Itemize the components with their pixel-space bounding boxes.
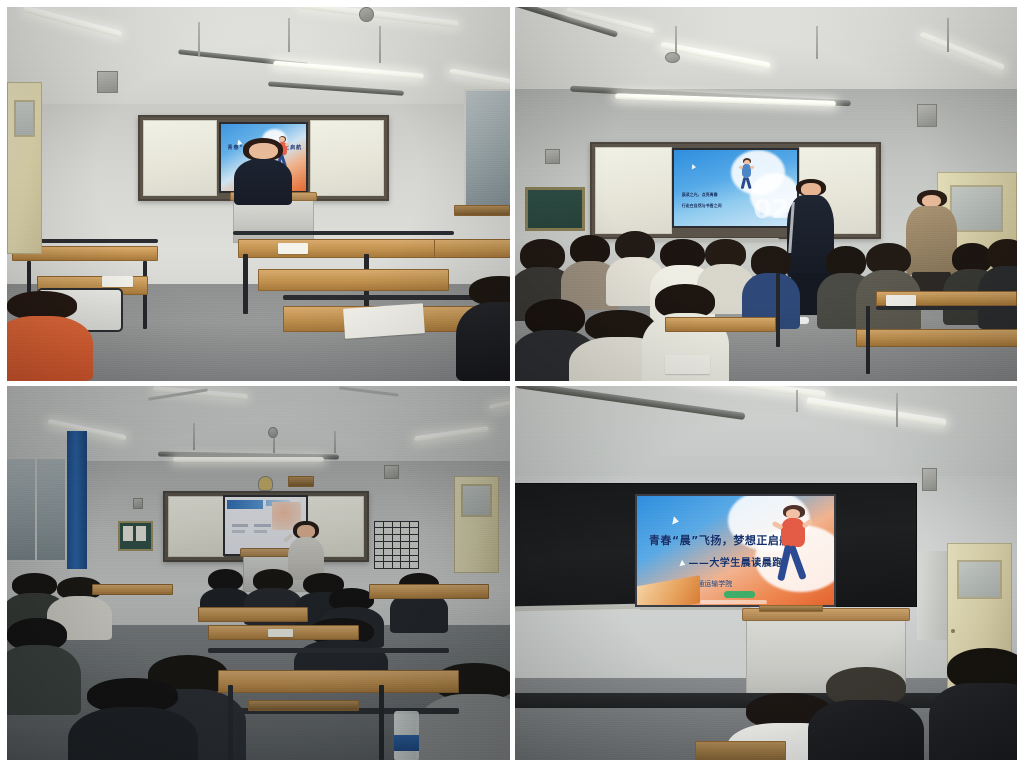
desk-leg (776, 273, 780, 348)
notice-board (118, 521, 153, 551)
presenter-face (297, 525, 314, 538)
student-hoodie-black (808, 700, 924, 760)
slide-text-line (232, 524, 248, 527)
student-desk (369, 584, 490, 599)
ceiling-speaker (917, 104, 937, 126)
student-desk (238, 239, 449, 258)
audience-person (399, 573, 439, 633)
student-right-foreground (469, 276, 509, 381)
paper-plane-icon (672, 516, 680, 525)
photo-panel-bottom-right: 青春“晨”飞扬，梦想正启航 ——大学生晨读晨跑 交通运输学院 (515, 386, 1018, 760)
notebook (665, 355, 710, 374)
slide-header-bar (227, 500, 263, 509)
audience-person (615, 231, 655, 306)
desk-leg (143, 261, 147, 328)
ceiling-fan-rod (193, 423, 195, 449)
student-torso (7, 316, 93, 381)
ceiling-fan-rod (816, 26, 818, 60)
slide-text-line (232, 530, 245, 533)
whiteboard-panel-left (168, 496, 225, 557)
audience-person (866, 243, 911, 333)
student-desk (198, 607, 309, 622)
presenter-person (293, 521, 318, 581)
ceiling-light-tube (173, 457, 324, 462)
ceiling-fan-rod (796, 390, 798, 412)
student-desk (665, 317, 776, 332)
student-torso (929, 683, 1017, 760)
runner-illustration (771, 505, 814, 596)
trophy-ornament (258, 476, 273, 491)
podium-item (759, 605, 823, 612)
stacked-books (248, 700, 359, 711)
classroom-window (7, 457, 37, 562)
presenter-face (249, 143, 278, 160)
mail-slot-rack (374, 521, 419, 570)
audience-person (7, 618, 67, 715)
desk-rail (208, 648, 449, 653)
door-window (14, 100, 35, 137)
desk-leg (243, 254, 248, 314)
slide-text-line (254, 530, 267, 533)
door-window (957, 560, 1003, 599)
wall-column (917, 551, 947, 641)
audience-person (987, 239, 1017, 329)
section-title-line1: 晨读之光，点亮青春 (682, 192, 718, 198)
desk-rail (876, 306, 1017, 310)
classroom-window (464, 89, 509, 209)
slide-main-title: 青春“晨”飞扬，梦想正启航 (649, 532, 791, 548)
student-desk (434, 239, 509, 258)
photo-panel-top-right: 02 晨读之光，点亮青春 行走在自然与书香之间 (515, 7, 1018, 381)
water-bottle (394, 711, 419, 760)
photo-collage: 青春“晨”飞扬，梦想正启航 (0, 0, 1024, 767)
paper-sheet (278, 243, 308, 254)
student-head (469, 276, 509, 305)
desk-leg (379, 685, 384, 760)
ceiling-fan-rod (198, 22, 200, 56)
wall-plaque (288, 476, 313, 487)
ceiling-speaker (384, 465, 399, 480)
slide-subtitle: ——大学生晨读晨跑 (688, 554, 783, 569)
security-camera (359, 7, 374, 22)
desk-rail (283, 295, 494, 300)
audience-person (87, 678, 177, 760)
runner-illustration (738, 158, 755, 194)
ceiling-fan-rod (379, 26, 381, 63)
open-notebook (343, 303, 425, 338)
desk-leg (866, 306, 870, 373)
cabinet-window (950, 185, 1003, 232)
paper-sheet (268, 629, 293, 636)
student-desk (258, 269, 449, 291)
desk-leg (228, 685, 233, 760)
wall-speaker (922, 468, 937, 490)
desk-rail (233, 231, 454, 235)
wall-fitting (133, 498, 143, 509)
slide-green-pill (724, 591, 756, 599)
ceiling-fan-rod (896, 393, 898, 427)
student-foreground-right (947, 648, 1017, 760)
student-desk (92, 584, 172, 595)
audience-person (751, 246, 791, 328)
paper-sheet (102, 276, 132, 287)
section-number: 02 (753, 197, 789, 223)
interactive-screen[interactable]: 青春“晨”飞扬，梦想正启航 ——大学生晨读晨跑 交通运输学院 (635, 494, 836, 606)
blue-curtain (67, 431, 87, 569)
student-desk (856, 329, 1017, 348)
ceiling-fan-rod (334, 431, 336, 453)
ceiling-speaker (97, 71, 117, 93)
classroom-door[interactable] (7, 82, 42, 254)
interactive-screen[interactable]: 02 晨读之光，点亮青春 行走在自然与书香之间 (672, 148, 799, 227)
photo-panel-bottom-left (7, 386, 510, 760)
screen-toolbar[interactable] (700, 600, 767, 604)
student-foreground-centre (826, 667, 906, 761)
photo-panel-top-left: 青春“晨”飞扬，梦想正启航 (7, 7, 510, 381)
student-desk (218, 670, 459, 692)
classroom-door[interactable] (454, 476, 499, 573)
whiteboard-panel-left (595, 147, 673, 234)
presenter-torso (234, 159, 292, 205)
door-handle[interactable] (951, 629, 955, 633)
presenter-person (243, 138, 283, 205)
screen-bottom-rail (640, 607, 751, 610)
window-sill (454, 205, 509, 216)
paper-sheet (886, 295, 916, 306)
ceiling-fan-rod (288, 18, 290, 52)
door-window (461, 484, 492, 516)
ceiling-fan-rod (947, 18, 949, 52)
section-title-line2: 行走在自然与书香之间 (682, 203, 722, 209)
teacher-coat (906, 206, 957, 275)
whiteboard-frame: 02 晨读之光，点亮青春 行走在自然与书香之间 (590, 142, 881, 239)
whiteboard-panel-left (143, 120, 217, 196)
green-chalkboard (525, 187, 585, 232)
whiteboard-panel-right (310, 120, 384, 196)
student-torso (456, 302, 509, 381)
paper-plane-icon (691, 164, 695, 170)
student-orange-shirt (7, 291, 77, 381)
student-desk (695, 741, 785, 760)
wall-fitting (545, 149, 560, 164)
slide-text-line (254, 524, 270, 527)
